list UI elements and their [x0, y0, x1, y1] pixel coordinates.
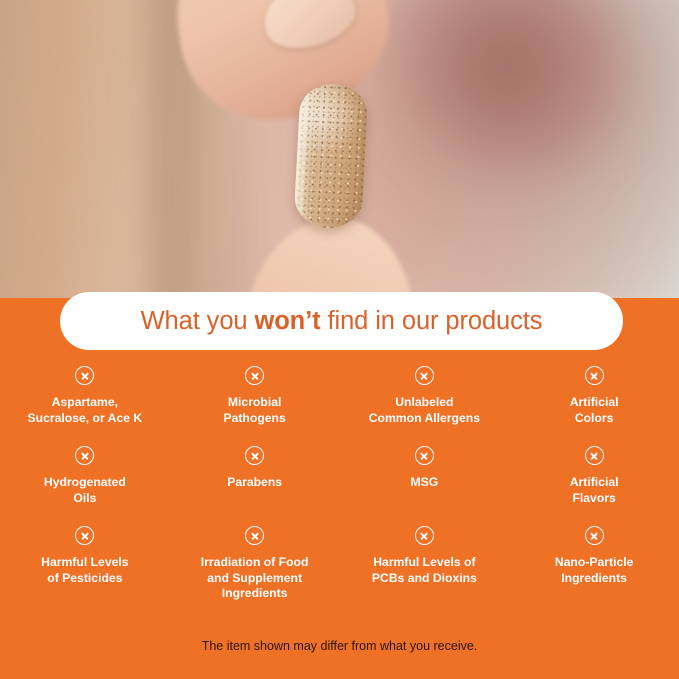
circle-x-icon [75, 526, 94, 545]
headline-part-2: find in our products [321, 307, 543, 335]
exclusion-label: Artificial Flavors [570, 475, 619, 506]
headline-pill: What you won’t find in our products [60, 292, 623, 350]
exclusion-label: Harmful Levels of PCBs and Dioxins [372, 555, 477, 586]
exclusion-label: Hydrogenated Oils [44, 475, 126, 506]
exclusion-label: Unlabeled Common Allergens [369, 395, 480, 426]
exclusion-item-nano-particle: Nano-Particle Ingredients [509, 526, 679, 616]
headline-emphasis: won’t [254, 307, 320, 335]
exclusion-label: Harmful Levels of Pesticides [41, 555, 128, 586]
product-photo [0, 0, 679, 298]
circle-x-icon [585, 526, 604, 545]
circle-x-icon [245, 446, 264, 465]
grid-row: Aspartame, Sucralose, or Ace K Microbial… [0, 366, 679, 446]
grid-row: Hydrogenated Oils Parabens MSG Artificia… [0, 446, 679, 526]
disclaimer-text: The item shown may differ from what you … [0, 639, 679, 653]
circle-x-icon [415, 446, 434, 465]
exclusion-item-artificial-flavors: Artificial Flavors [509, 446, 679, 526]
circle-x-icon [75, 446, 94, 465]
exclusion-label: Artificial Colors [570, 395, 619, 426]
exclusion-label: Irradiation of Food and Supplement Ingre… [201, 555, 309, 602]
exclusion-grid: Aspartame, Sucralose, or Ace K Microbial… [0, 366, 679, 616]
circle-x-icon [415, 526, 434, 545]
exclusion-item-artificial-colors: Artificial Colors [509, 366, 679, 446]
exclusion-item-unlabeled-allergens: Unlabeled Common Allergens [340, 366, 510, 446]
exclusion-label: Microbial Pathogens [223, 395, 285, 426]
exclusion-item-microbial-pathogens: Microbial Pathogens [170, 366, 340, 446]
circle-x-icon [585, 446, 604, 465]
grid-row: Harmful Levels of Pesticides Irradiation… [0, 526, 679, 616]
exclusion-label: MSG [410, 475, 438, 491]
product-infographic: What you won’t find in our products Aspa… [0, 0, 679, 679]
headline-part-1: What you [141, 307, 255, 335]
circle-x-icon [75, 366, 94, 385]
exclusion-item-irradiation: Irradiation of Food and Supplement Ingre… [170, 526, 340, 616]
exclusion-item-parabens: Parabens [170, 446, 340, 526]
supplement-tablet [293, 82, 368, 229]
exclusion-item-hydrogenated-oils: Hydrogenated Oils [0, 446, 170, 526]
exclusion-item-msg: MSG [340, 446, 510, 526]
exclusion-label: Aspartame, Sucralose, or Ace K [28, 395, 143, 426]
circle-x-icon [245, 366, 264, 385]
exclusion-item-aspartame: Aspartame, Sucralose, or Ace K [0, 366, 170, 446]
exclusion-label: Parabens [227, 475, 282, 491]
circle-x-icon [245, 526, 264, 545]
exclusion-item-pesticides: Harmful Levels of Pesticides [0, 526, 170, 616]
circle-x-icon [415, 366, 434, 385]
circle-x-icon [585, 366, 604, 385]
page-title: What you won’t find in our products [141, 307, 543, 336]
exclusion-label: Nano-Particle Ingredients [555, 555, 634, 586]
exclusion-item-pcbs-dioxins: Harmful Levels of PCBs and Dioxins [340, 526, 510, 616]
